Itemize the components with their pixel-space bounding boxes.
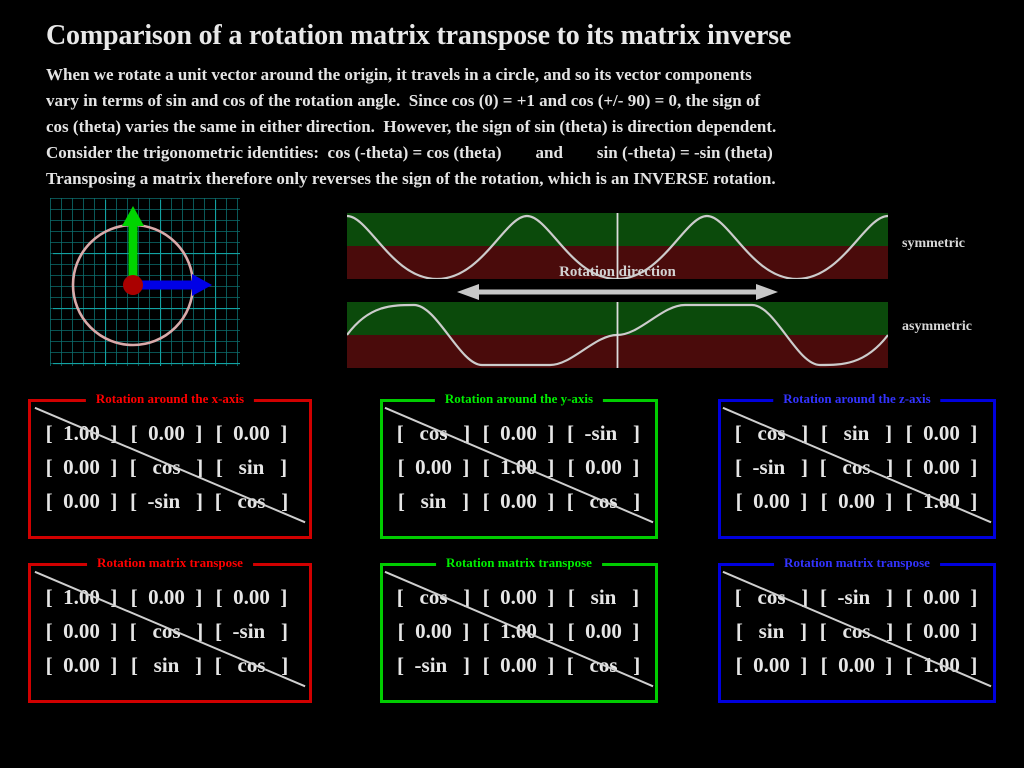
matrix-cell: [ 1.00 ]: [39, 585, 124, 610]
matrix-row: [ 1.00 ] [ 0.00 ] [ 0.00 ]: [39, 580, 301, 614]
wave-band-asymmetric: [347, 302, 888, 368]
matrix-row: [ 0.00 ] [ cos ] [ -sin ]: [39, 614, 301, 648]
matrix-cell: [ 0.00 ]: [729, 489, 814, 514]
matrix-cell: [ sin ]: [124, 653, 209, 678]
matrix-body: [ cos ] [ 0.00 ] [ -sin ] [ 0.00 ] [ 1.0…: [383, 402, 655, 532]
matrix-cell: [ sin ]: [209, 455, 294, 480]
matrix-row: [ 1.00 ] [ 0.00 ] [ 0.00 ]: [39, 416, 301, 450]
matrix-row: [ -sin ] [ cos ] [ 0.00 ]: [729, 450, 985, 484]
matrix-cell: [ cos ]: [124, 619, 209, 644]
matrix-row: [ 0.00 ] [ 0.00 ] [ 1.00 ]: [729, 648, 985, 682]
matrix-row: [ 0.00 ] [ 0.00 ] [ 1.00 ]: [729, 484, 985, 518]
matrix-cell: [ cos ]: [814, 619, 899, 644]
matrix-cell: [ cos ]: [124, 455, 209, 480]
matrix-cell: [ -sin ]: [814, 585, 899, 610]
matrix-cell: [ 0.00 ]: [561, 619, 646, 644]
matrix-cell: [ 0.00 ]: [476, 489, 561, 514]
matrix-cell: [ 0.00 ]: [899, 585, 984, 610]
matrix-cell: [ cos ]: [209, 489, 294, 514]
matrix-cell: [ -sin ]: [391, 653, 476, 678]
matrix-cell: [ 0.00 ]: [209, 585, 294, 610]
matrix-body: [ 1.00 ] [ 0.00 ] [ 0.00 ] [ 0.00 ] [ co…: [31, 566, 309, 696]
matrix-cell: [ 0.00 ]: [476, 421, 561, 446]
matrix-cell: [ 0.00 ]: [476, 653, 561, 678]
matrix-row: [ 0.00 ] [ -sin ] [ cos ]: [39, 484, 301, 518]
matrix-panel-rotation-y: Rotation around the y-axis [ cos ] [ 0.0…: [380, 399, 658, 539]
matrix-cell: [ 1.00 ]: [476, 455, 561, 480]
matrix-row: [ 0.00 ] [ sin ] [ cos ]: [39, 648, 301, 682]
matrix-cell: [ cos ]: [561, 489, 646, 514]
matrix-cell: [ -sin ]: [209, 619, 294, 644]
matrix-panel-transpose-x: Rotation matrix transpose [ 1.00 ] [ 0.0…: [28, 563, 312, 703]
matrix-cell: [ cos ]: [391, 585, 476, 610]
matrix-cell: [ 1.00 ]: [476, 619, 561, 644]
matrix-cell: [ 0.00 ]: [124, 421, 209, 446]
intro-paragraph: When we rotate a unit vector around the …: [46, 62, 986, 192]
matrix-cell: [ 0.00 ]: [899, 619, 984, 644]
matrix-cell: [ 0.00 ]: [814, 489, 899, 514]
matrix-cell: [ sin ]: [814, 421, 899, 446]
matrix-body: [ cos ] [ sin ] [ 0.00 ] [ -sin ] [ cos …: [721, 402, 993, 532]
matrix-panel-rotation-z: Rotation around the z-axis [ cos ] [ sin…: [718, 399, 996, 539]
matrix-cell: [ cos ]: [814, 455, 899, 480]
matrix-cell: [ sin ]: [561, 585, 646, 610]
intro-line-5: Transposing a matrix therefore only reve…: [46, 166, 986, 192]
matrix-body: [ cos ] [ -sin ] [ 0.00 ] [ sin ] [ cos …: [721, 566, 993, 696]
matrix-body: [ cos ] [ 0.00 ] [ sin ] [ 0.00 ] [ 1.00…: [383, 566, 655, 696]
matrix-row: [ cos ] [ -sin ] [ 0.00 ]: [729, 580, 985, 614]
page-title: Comparison of a rotation matrix transpos…: [46, 20, 996, 52]
matrix-body: [ 1.00 ] [ 0.00 ] [ 0.00 ] [ 0.00 ] [ co…: [31, 402, 309, 532]
intro-line-1: When we rotate a unit vector around the …: [46, 62, 986, 88]
intro-line-2: vary in terms of sin and cos of the rota…: [46, 88, 986, 114]
matrix-cell: [ -sin ]: [124, 489, 209, 514]
matrix-panel-rotation-x: Rotation around the x-axis [ 1.00 ] [ 0.…: [28, 399, 312, 539]
matrix-cell: [ cos ]: [391, 421, 476, 446]
intro-line-4: Consider the trigonometric identities: c…: [46, 140, 986, 166]
matrix-row: [ cos ] [ 0.00 ] [ -sin ]: [391, 416, 647, 450]
matrix-cell: [ 1.00 ]: [39, 421, 124, 446]
matrix-cell: [ cos ]: [729, 421, 814, 446]
rotation-direction-group: Rotation direction: [347, 264, 888, 300]
matrix-cell: [ 1.00 ]: [899, 489, 984, 514]
matrix-cell: [ 0.00 ]: [814, 653, 899, 678]
matrix-cell: [ cos ]: [729, 585, 814, 610]
matrix-cell: [ -sin ]: [729, 455, 814, 480]
matrix-cell: [ 0.00 ]: [39, 653, 124, 678]
matrix-cell: [ 0.00 ]: [391, 455, 476, 480]
intro-line-3: cos (theta) varies the same in either di…: [46, 114, 986, 140]
matrix-cell: [ 0.00 ]: [476, 585, 561, 610]
matrix-cell: [ 0.00 ]: [39, 619, 124, 644]
symmetric-label: symmetric: [902, 236, 965, 252]
matrix-row: [ sin ] [ cos ] [ 0.00 ]: [729, 614, 985, 648]
matrix-cell: [ sin ]: [729, 619, 814, 644]
matrix-cell: [ 0.00 ]: [899, 421, 984, 446]
matrix-cell: [ 0.00 ]: [39, 489, 124, 514]
rotation-direction-label: Rotation direction: [347, 264, 888, 281]
matrix-cell: [ 0.00 ]: [209, 421, 294, 446]
matrix-cell: [ 0.00 ]: [561, 455, 646, 480]
matrix-cell: [ 0.00 ]: [124, 585, 209, 610]
matrix-row: [ 0.00 ] [ 1.00 ] [ 0.00 ]: [391, 614, 647, 648]
asymmetric-label: asymmetric: [902, 319, 972, 335]
rotation-direction-arrow-icon: [347, 283, 888, 301]
matrix-row: [ cos ] [ 0.00 ] [ sin ]: [391, 580, 647, 614]
unit-vector-circle-diagram: [50, 198, 240, 366]
matrix-cell: [ cos ]: [561, 653, 646, 678]
matrix-panel-transpose-y: Rotation matrix transpose [ cos ] [ 0.00…: [380, 563, 658, 703]
matrix-row: [ sin ] [ 0.00 ] [ cos ]: [391, 484, 647, 518]
matrix-cell: [ 0.00 ]: [899, 455, 984, 480]
matrix-cell: [ 1.00 ]: [899, 653, 984, 678]
matrix-row: [ -sin ] [ 0.00 ] [ cos ]: [391, 648, 647, 682]
matrix-cell: [ 0.00 ]: [729, 653, 814, 678]
matrix-cell: [ -sin ]: [561, 421, 646, 446]
origin-dot: [123, 275, 143, 295]
matrix-row: [ 0.00 ] [ cos ] [ sin ]: [39, 450, 301, 484]
matrix-cell: [ 0.00 ]: [391, 619, 476, 644]
matrix-panel-transpose-z: Rotation matrix transpose [ cos ] [ -sin…: [718, 563, 996, 703]
matrix-cell: [ 0.00 ]: [39, 455, 124, 480]
matrix-row: [ 0.00 ] [ 1.00 ] [ 0.00 ]: [391, 450, 647, 484]
matrix-cell: [ cos ]: [209, 653, 294, 678]
matrix-row: [ cos ] [ sin ] [ 0.00 ]: [729, 416, 985, 450]
matrix-cell: [ sin ]: [391, 489, 476, 514]
